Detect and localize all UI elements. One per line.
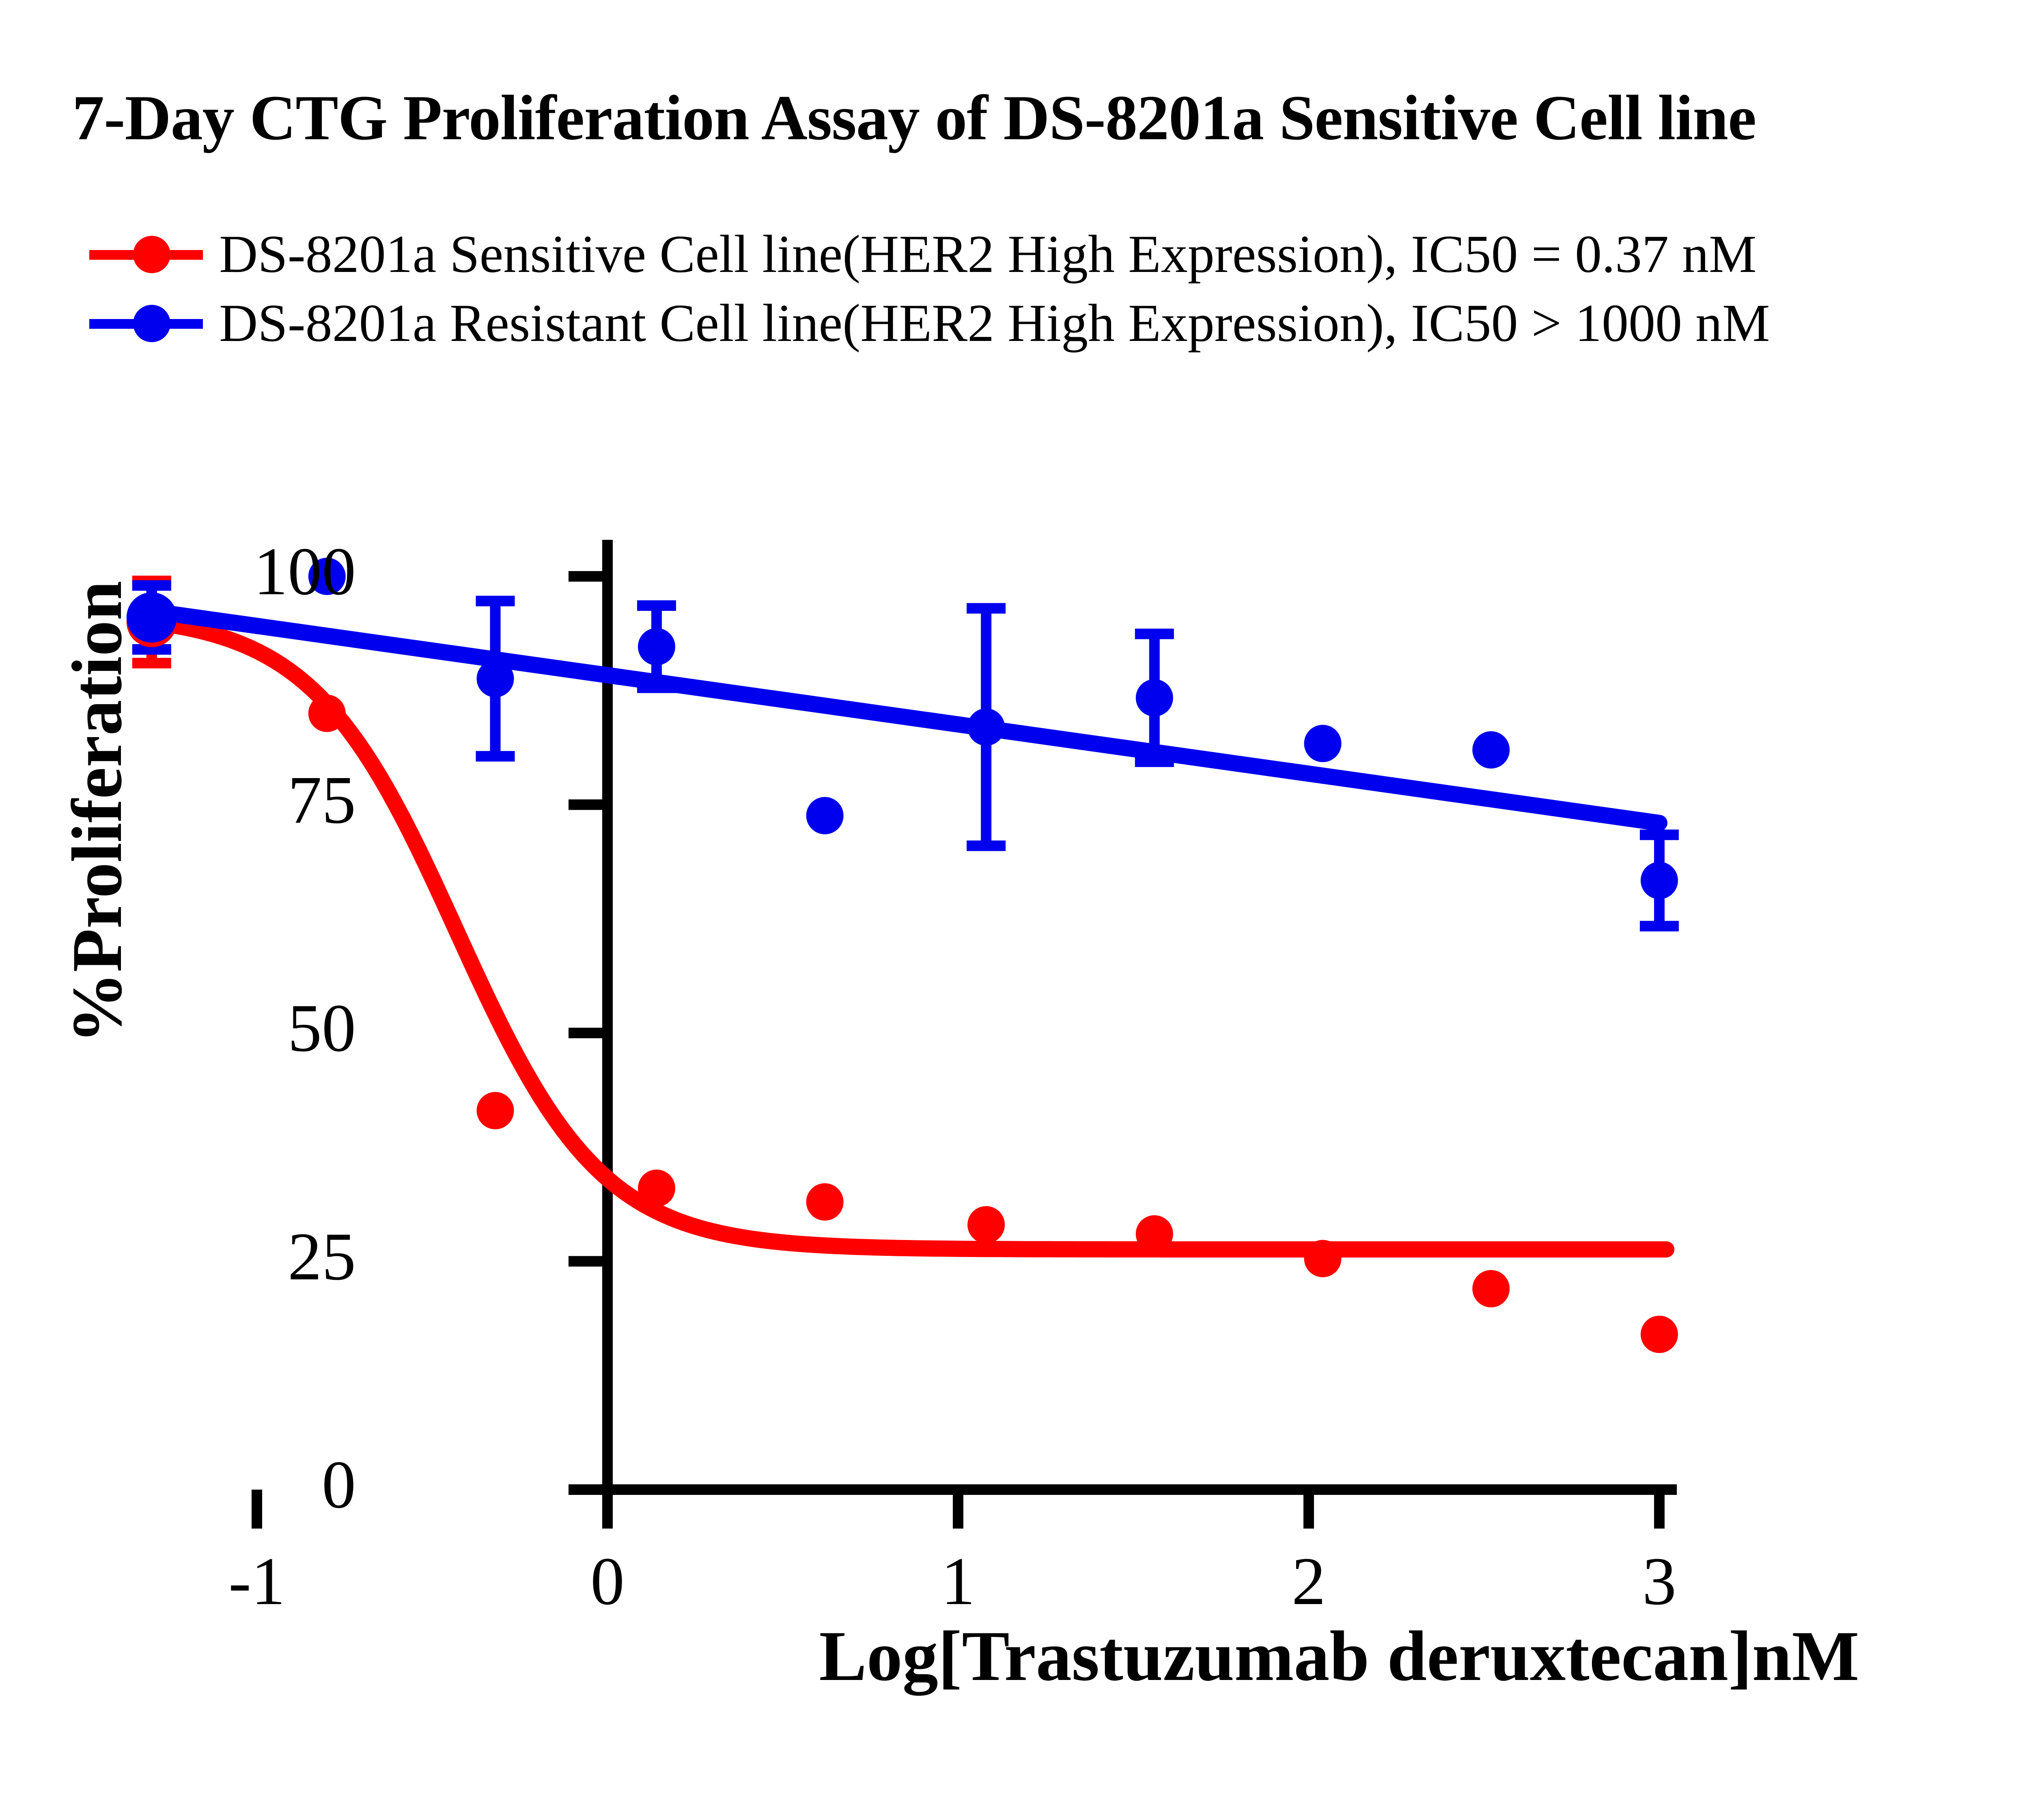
data-point <box>806 797 844 835</box>
data-point <box>477 1092 514 1129</box>
data-point <box>1304 1240 1342 1277</box>
x-tick-label: 0 <box>547 1542 668 1621</box>
y-tick-label: 100 <box>169 533 356 611</box>
chart-legend: DS-8201a Sensitive Cell line(HER2 High E… <box>81 219 2029 357</box>
legend-item-resistant: DS-8201a Resistant Cell line(HER2 High E… <box>81 288 2029 357</box>
legend-marker-resistant <box>81 311 207 335</box>
y-tick-label: 75 <box>169 761 356 839</box>
legend-marker-sensitive <box>81 242 207 266</box>
data-point <box>1136 679 1173 716</box>
x-tick-label: 2 <box>1248 1542 1370 1621</box>
data-point <box>1472 1270 1510 1307</box>
page-title: 7-Day CTG Proliferation Assay of DS-8201… <box>72 81 2029 155</box>
data-point <box>1472 731 1510 769</box>
data-point <box>1136 1215 1173 1253</box>
y-axis-label: %Proliferation <box>56 487 138 1137</box>
data-point <box>638 1170 675 1207</box>
x-tick-label: 1 <box>897 1542 1019 1621</box>
data-point <box>1641 862 1678 899</box>
blue-fit-line <box>145 610 1659 823</box>
x-tick-label: -1 <box>196 1542 318 1621</box>
legend-item-sensitive: DS-8201a Sensitive Cell line(HER2 High E… <box>81 219 2029 288</box>
data-point <box>806 1183 844 1221</box>
data-point <box>1304 725 1342 762</box>
data-point <box>967 1206 1005 1244</box>
legend-label-sensitive: DS-8201a Sensitive Cell line(HER2 High E… <box>219 223 1757 285</box>
data-point <box>308 695 346 732</box>
y-tick-label: 0 <box>169 1446 356 1524</box>
legend-label-resistant: DS-8201a Resistant Cell line(HER2 High E… <box>219 292 1770 354</box>
x-tick-label: 3 <box>1598 1542 1720 1621</box>
chart-page: 7-Day CTG Proliferation Assay of DS-8201… <box>0 0 2029 1820</box>
data-point <box>477 660 514 697</box>
x-axis-label: Log[Trastuzumab deruxtecan]nM <box>446 1615 2029 1697</box>
y-tick-label: 50 <box>169 989 356 1067</box>
y-tick-label: 25 <box>169 1218 356 1296</box>
data-point <box>638 628 675 665</box>
data-point <box>1641 1316 1678 1353</box>
data-point <box>967 708 1005 746</box>
